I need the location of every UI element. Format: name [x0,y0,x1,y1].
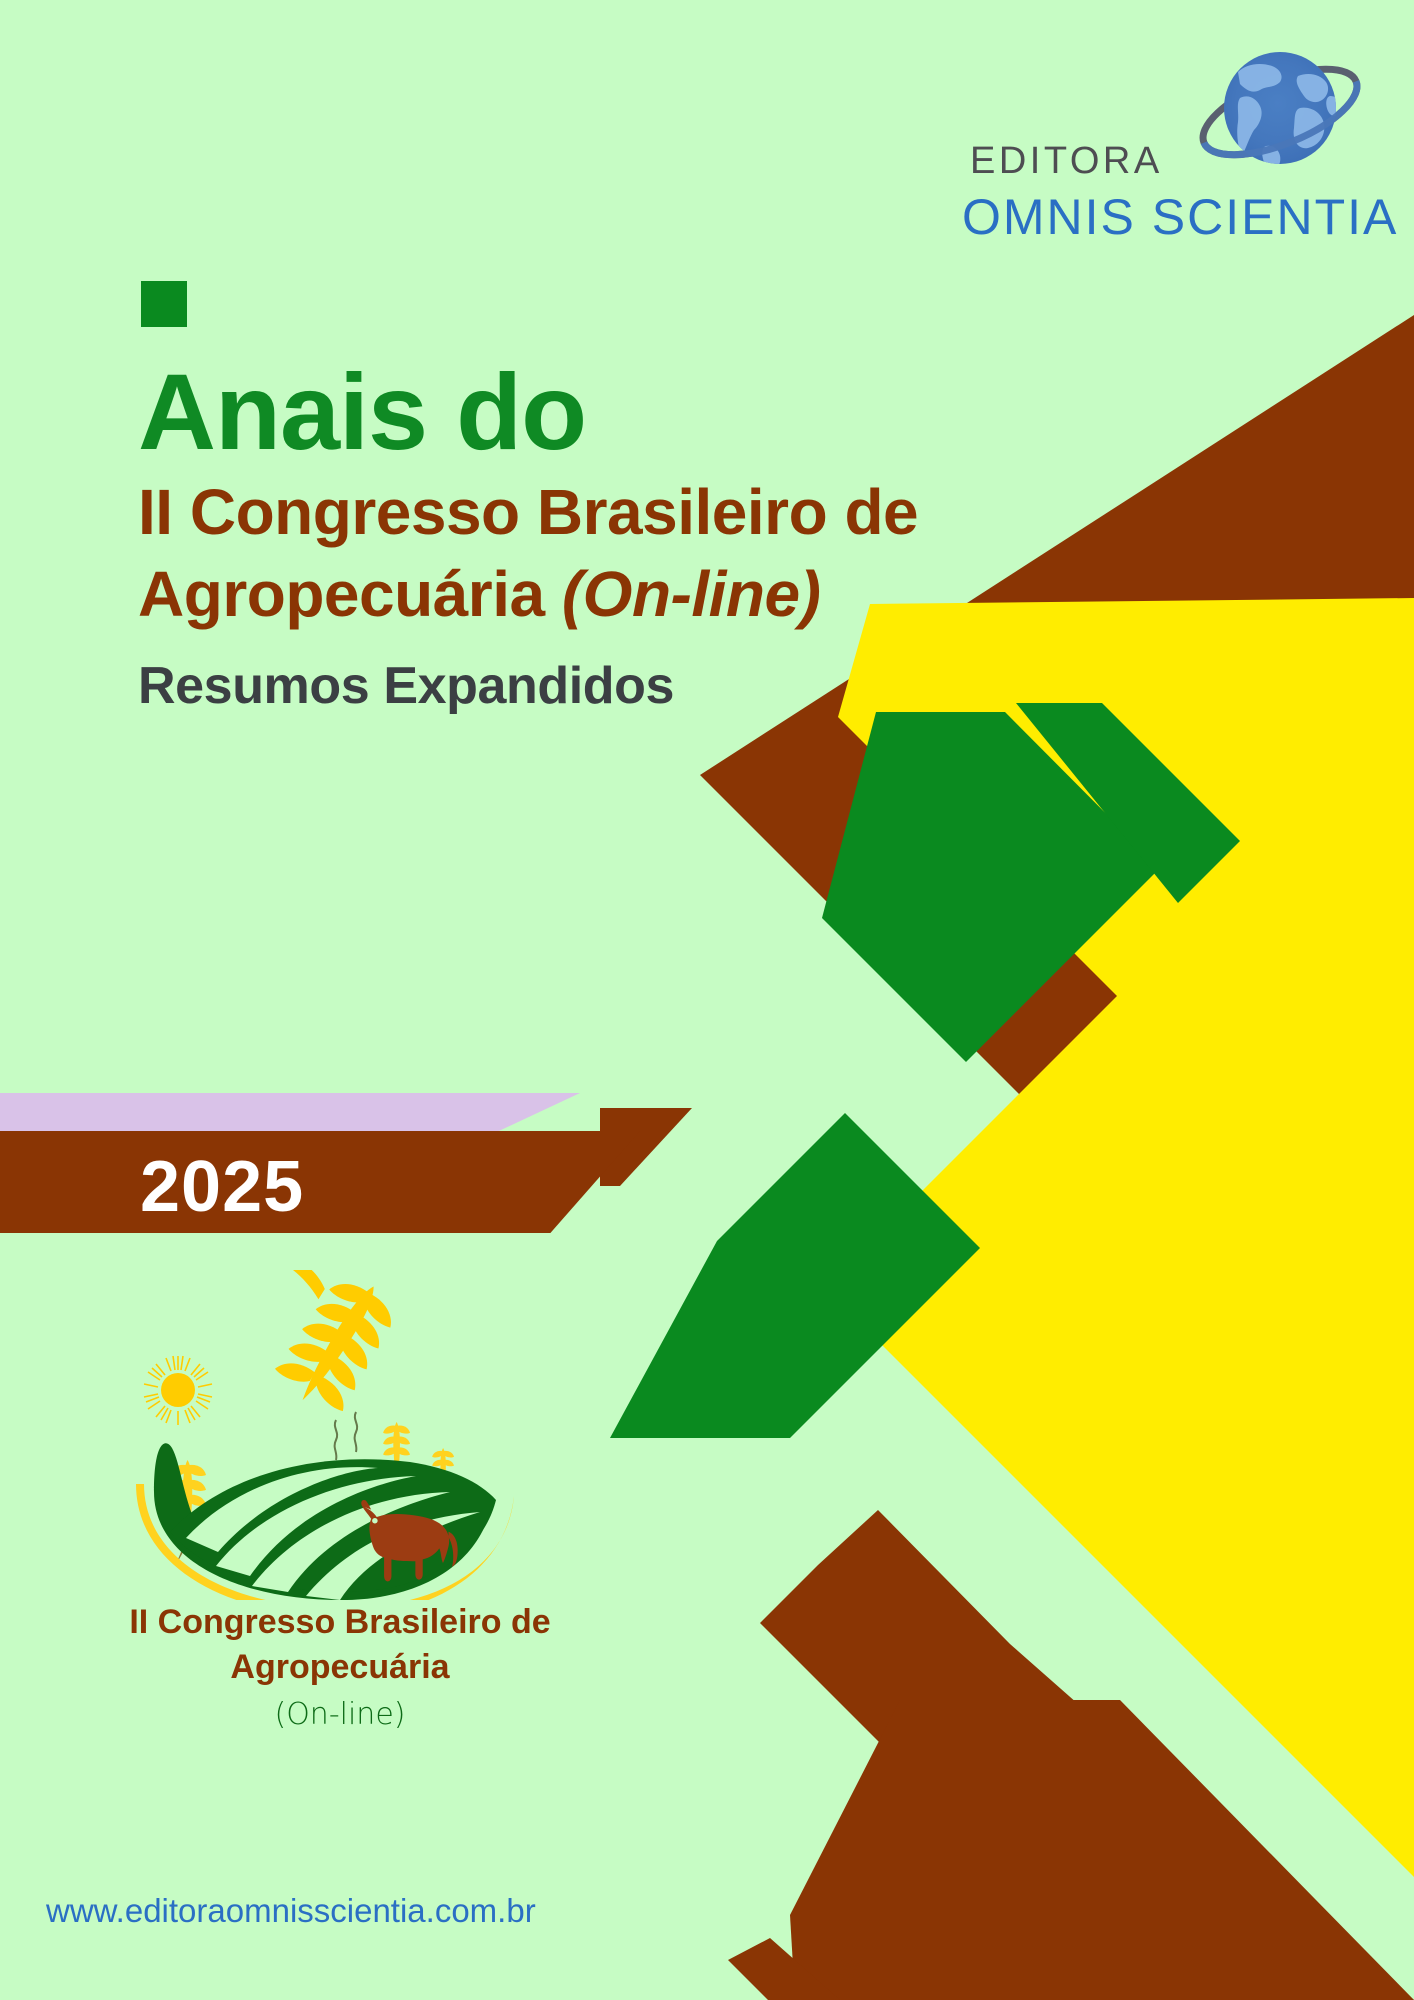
green-square-lower [610,1113,980,1438]
green-slim-bar-upper [1016,703,1240,903]
document-kind-label: Resumos Expandidos [138,658,1118,715]
year-banner [0,1131,640,1233]
brown-sliver-bottom [728,1938,840,2000]
emblem-caption: II Congresso Brasileiro de Agropecuária … [10,1600,670,1736]
website-url[interactable]: www.editoraomnisscientia.com.br [46,1892,536,1930]
yellow-large-shape [825,598,1414,1877]
emblem-caption-line-3: (On-line) [10,1694,670,1736]
subtitle-line-2: Agropecuária (On-line) [138,554,1118,636]
emblem-caption-line-1: II Congresso Brasileiro de [10,1600,670,1645]
publisher-editora-label: EDITORA [970,140,1163,183]
emblem-caption-line-2: Agropecuária [10,1645,670,1690]
subtitle-line-2-plain: Agropecuária [138,558,562,630]
lilac-ribbon [0,1093,580,1131]
subtitle-line-1: II Congresso Brasileiro de [138,472,1118,554]
publisher-logo: EDITORA OMNIS SCIENTIA [960,36,1380,226]
brown-lower-mass [790,1700,1414,2000]
publisher-omnis-scientia-label: OMNIS SCIENTIA [962,188,1398,246]
brown-slim-bar [760,1510,1414,2000]
green-bar-upper [822,712,1160,1062]
agriculture-farm-logo [110,1270,520,1600]
year-label: 2025 [140,1146,304,1228]
sun-icon [144,1356,212,1425]
subtitle-line-2-italic: (On-line) [562,558,821,630]
globe-icon [1180,36,1380,196]
green-square-marker [141,281,187,327]
wheat-stalk-icon [211,1270,408,1421]
title-block: Anais do II Congresso Brasileiro de Agro… [138,358,1118,715]
book-cover: EDITORA OMNIS SCIENTIA Anais do II Congr… [0,0,1414,2000]
page-title: Anais do [138,358,1118,466]
